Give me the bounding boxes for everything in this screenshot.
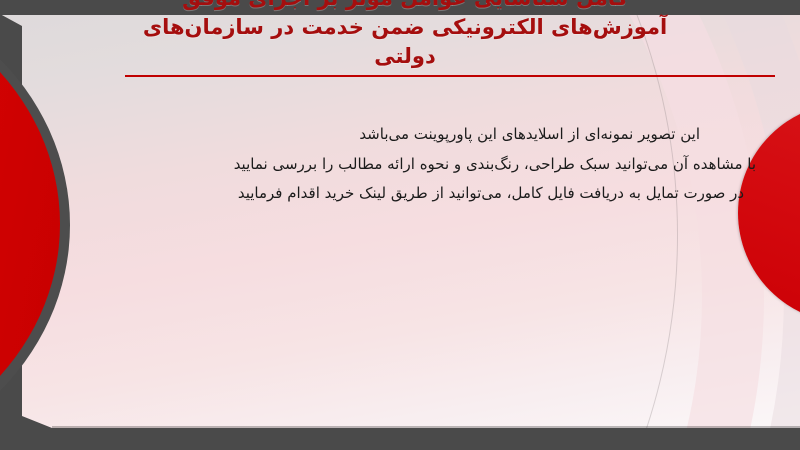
bottom-frame-band [0, 428, 800, 450]
slide-title-line-2: آموزش‌های الکترونیکی ضمن خدمت در سازمان‌… [60, 13, 750, 42]
slide-canvas: کامل شناسایی عوامل مؤثر بر اجرای موفق آم… [0, 0, 800, 450]
slide-body-line-2: با مشاهده آن می‌توانید سبک طراحی، رنگ‌بن… [120, 150, 756, 180]
slide-body-line-1: این تصویر نمونه‌ای از اسلایدهای این پاور… [120, 120, 700, 150]
title-underline-rule [125, 75, 775, 77]
slide-body-line-3: در صورت تمایل به دریافت فایل کامل، می‌تو… [120, 179, 744, 209]
slide-title-line-1: کامل شناسایی عوامل مؤثر بر اجرای موفق [60, 0, 750, 13]
slide-title-line-3: دولتی [60, 42, 750, 71]
slide-title: کامل شناسایی عوامل مؤثر بر اجرای موفق آم… [60, 0, 750, 71]
slide-body-text: این تصویر نمونه‌ای از اسلایدهای این پاور… [120, 120, 700, 209]
